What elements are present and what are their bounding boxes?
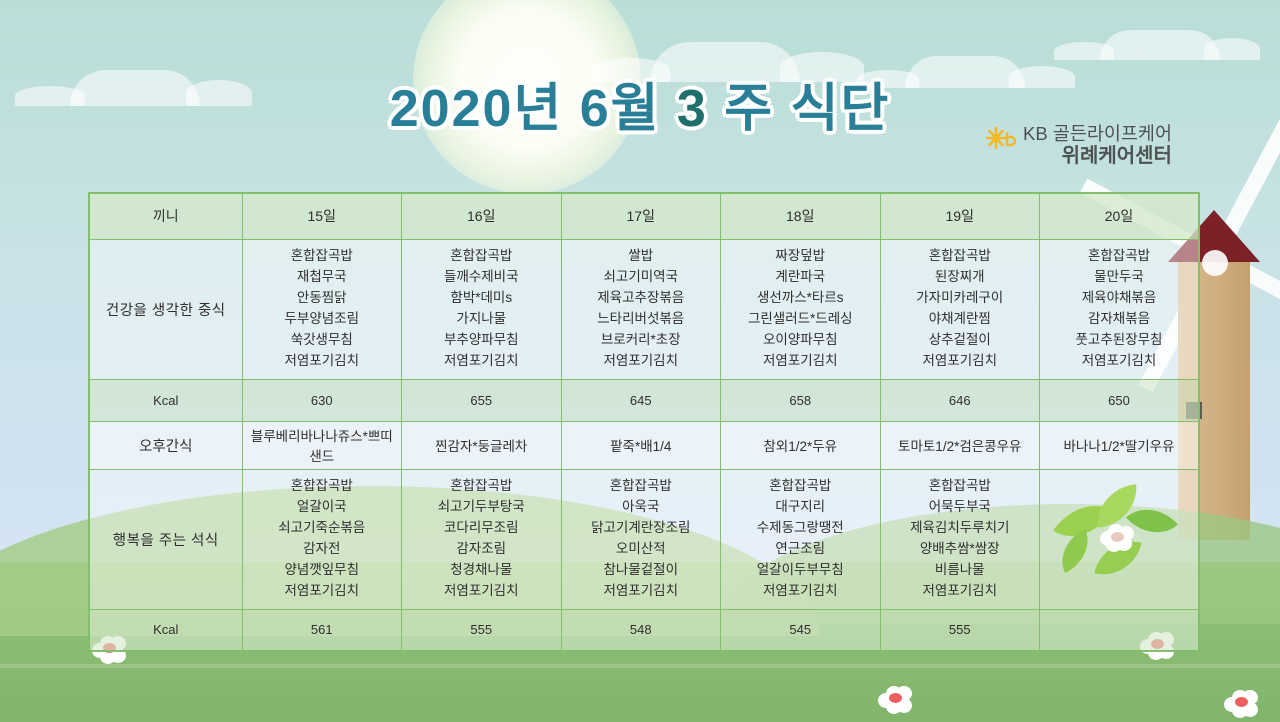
menu-cell-day-6: 혼합잡곡밥물만두국제육야채볶음감자채볶음풋고추된장무침저염포기김치 bbox=[1040, 239, 1200, 379]
page-title-part2: 주 식단 bbox=[708, 80, 890, 138]
dish-list: 혼합잡곡밥어묵두부국제육김치두루치기양배추쌈*쌈장비름나물저염포기김치 bbox=[885, 476, 1036, 602]
dish-item: 제육김치두루치기 bbox=[885, 518, 1036, 539]
dish-item: 혼합잡곡밥 bbox=[247, 246, 398, 267]
table-row: Kcal561555548545555 bbox=[89, 609, 1199, 651]
menu-cell-day-1: 혼합잡곡밥재첩무국안동찜닭두부양념조림쑥갓생무침저염포기김치 bbox=[242, 239, 402, 379]
dish-item: 혼합잡곡밥 bbox=[725, 476, 876, 497]
snack-cell-day-4: 참외1/2*두유 bbox=[721, 421, 881, 469]
snack-cell-day-2: 찐감자*둥글레차 bbox=[402, 421, 562, 469]
kcal-cell-day-4: 545 bbox=[721, 609, 881, 651]
dish-item: 재첩무국 bbox=[247, 267, 398, 288]
row-label-snack: 오후간식 bbox=[89, 421, 242, 469]
menu-cell-day-6 bbox=[1040, 469, 1200, 609]
dish-item: 혼합잡곡밥 bbox=[406, 246, 557, 267]
dish-item: 감자조림 bbox=[406, 539, 557, 560]
table-row: 행복을 주는 석식혼합잡곡밥얼갈이국쇠고기죽순볶음감자전양념깻잎무침저염포기김치… bbox=[89, 469, 1199, 609]
dish-item: 참나물겉절이 bbox=[566, 560, 717, 581]
kcal-cell-day-2: 655 bbox=[402, 379, 562, 421]
table-row: 건강을 생각한 중식혼합잡곡밥재첩무국안동찜닭두부양념조림쑥갓생무침저염포기김치… bbox=[89, 239, 1199, 379]
flower-icon-4 bbox=[1224, 690, 1258, 718]
header-cell-day-6: 20일 bbox=[1040, 193, 1200, 239]
dish-item: 혼합잡곡밥 bbox=[247, 476, 398, 497]
kcal-cell-day-6 bbox=[1040, 609, 1200, 651]
dish-item: 저염포기김치 bbox=[566, 581, 717, 602]
row-label-meal: 건강을 생각한 중식 bbox=[89, 239, 242, 379]
dish-item: 양념깻잎무침 bbox=[247, 560, 398, 581]
dish-item: 쇠고기두부탕국 bbox=[406, 497, 557, 518]
dish-item: 저염포기김치 bbox=[566, 351, 717, 372]
menu-cell-day-2: 혼합잡곡밥쇠고기두부탕국코다리무조림감자조림청경채나물저염포기김치 bbox=[402, 469, 562, 609]
dish-item: 가자미카레구이 bbox=[885, 288, 1036, 309]
dish-list: 혼합잡곡밥들깨수제비국함박*데미s가지나물부추양파무침저염포기김치 bbox=[406, 246, 557, 372]
menu-table: 끼니15일16일17일18일19일20일건강을 생각한 중식혼합잡곡밥재첩무국안… bbox=[88, 192, 1200, 652]
dish-item: 연근조림 bbox=[725, 539, 876, 560]
dish-item: 저염포기김치 bbox=[1044, 351, 1194, 372]
logo-company-name: KB 골든라이프케어 bbox=[1023, 124, 1172, 145]
brand-logo: KB 골든라이프케어 위례케어센터 bbox=[986, 124, 1172, 167]
menu-cell-day-4: 혼합잡곡밥대구지리수제동그랑땡전연근조림얼갈이두부무침저염포기김치 bbox=[721, 469, 881, 609]
dish-item: 저염포기김치 bbox=[247, 581, 398, 602]
kcal-cell-day-1: 630 bbox=[242, 379, 402, 421]
page-title-week-number: 3 bbox=[677, 80, 708, 138]
dish-item: 혼합잡곡밥 bbox=[566, 476, 717, 497]
kcal-cell-day-1: 561 bbox=[242, 609, 402, 651]
dish-item: 쌀밥 bbox=[566, 246, 717, 267]
dish-list: 짜장덮밥계란파국생선까스*타르s그린샐러드*드레싱오이양파무침저염포기김치 bbox=[725, 246, 876, 372]
snack-cell-day-6: 바나나1/2*딸기우유 bbox=[1040, 421, 1200, 469]
logo-center-name: 위례케어센터 bbox=[1023, 145, 1172, 167]
dish-item: 저염포기김치 bbox=[406, 581, 557, 602]
dish-item: 혼합잡곡밥 bbox=[885, 246, 1036, 267]
menu-cell-day-3: 쌀밥쇠고기미역국제육고추장볶음느타리버섯볶음브로커리*초장저염포기김치 bbox=[561, 239, 721, 379]
dish-item: 그린샐러드*드레싱 bbox=[725, 309, 876, 330]
dish-item: 부추양파무침 bbox=[406, 330, 557, 351]
dish-item: 쇠고기죽순볶음 bbox=[247, 518, 398, 539]
header-cell-day-4: 18일 bbox=[721, 193, 881, 239]
dish-list: 혼합잡곡밥된장찌개가자미카레구이야채계란찜상추겉절이저염포기김치 bbox=[885, 246, 1036, 372]
table-header-row: 끼니15일16일17일18일19일20일 bbox=[89, 193, 1199, 239]
kcal-cell-day-6: 650 bbox=[1040, 379, 1200, 421]
dish-item: 대구지리 bbox=[725, 497, 876, 518]
dish-item: 얼갈이두부무침 bbox=[725, 560, 876, 581]
dish-item: 저염포기김치 bbox=[885, 351, 1036, 372]
kcal-cell-day-2: 555 bbox=[402, 609, 562, 651]
dish-item: 어묵두부국 bbox=[885, 497, 1036, 518]
dish-item: 닭고기계란장조림 bbox=[566, 518, 717, 539]
kcal-cell-day-5: 555 bbox=[880, 609, 1040, 651]
dish-item: 제육고추장볶음 bbox=[566, 288, 717, 309]
menu-cell-day-5: 혼합잡곡밥어묵두부국제육김치두루치기양배추쌈*쌈장비름나물저염포기김치 bbox=[880, 469, 1040, 609]
dish-item: 두부양념조림 bbox=[247, 309, 398, 330]
leaves-icon bbox=[1044, 476, 1194, 603]
kcal-cell-day-5: 646 bbox=[880, 379, 1040, 421]
dish-item: 감자전 bbox=[247, 539, 398, 560]
cloud-icon-far-right bbox=[1100, 30, 1220, 60]
dish-list: 혼합잡곡밥재첩무국안동찜닭두부양념조림쑥갓생무침저염포기김치 bbox=[247, 246, 398, 372]
snack-cell-day-3: 팥죽*배1/4 bbox=[561, 421, 721, 469]
dish-item: 저염포기김치 bbox=[885, 581, 1036, 602]
dish-list: 혼합잡곡밥쇠고기두부탕국코다리무조림감자조림청경채나물저염포기김치 bbox=[406, 476, 557, 602]
dish-item: 풋고추된장무침 bbox=[1044, 330, 1194, 351]
dish-item: 상추겉절이 bbox=[885, 330, 1036, 351]
header-cell-day-2: 16일 bbox=[402, 193, 562, 239]
dish-item: 양배추쌈*쌈장 bbox=[885, 539, 1036, 560]
row-label-meal: 행복을 주는 석식 bbox=[89, 469, 242, 609]
dish-item: 아욱국 bbox=[566, 497, 717, 518]
dish-item: 쇠고기미역국 bbox=[566, 267, 717, 288]
dish-list: 혼합잡곡밥대구지리수제동그랑땡전연근조림얼갈이두부무침저염포기김치 bbox=[725, 476, 876, 602]
dish-item: 수제동그랑땡전 bbox=[725, 518, 876, 539]
dish-item: 청경채나물 bbox=[406, 560, 557, 581]
kb-star-icon bbox=[986, 126, 1016, 152]
dish-item: 브로커리*초장 bbox=[566, 330, 717, 351]
meal-plan-poster: 2020년 6월 3 주 식단 KB 골든라이프케어 위례케어센터 bbox=[0, 0, 1280, 722]
row-label-kcal: Kcal bbox=[89, 609, 242, 651]
dish-item: 오이양파무침 bbox=[725, 330, 876, 351]
dish-item: 안동찜닭 bbox=[247, 288, 398, 309]
page-title-part1: 2020년 6월 bbox=[390, 80, 677, 138]
snack-cell-day-5: 토마토1/2*검은콩우유 bbox=[880, 421, 1040, 469]
dish-item: 감자채볶음 bbox=[1044, 309, 1194, 330]
dish-item: 가지나물 bbox=[406, 309, 557, 330]
menu-cell-day-1: 혼합잡곡밥얼갈이국쇠고기죽순볶음감자전양념깻잎무침저염포기김치 bbox=[242, 469, 402, 609]
dish-item: 느타리버섯볶음 bbox=[566, 309, 717, 330]
header-cell-day-3: 17일 bbox=[561, 193, 721, 239]
menu-table-container: 끼니15일16일17일18일19일20일건강을 생각한 중식혼합잡곡밥재첩무국안… bbox=[88, 192, 1198, 652]
dish-item: 제육야채볶음 bbox=[1044, 288, 1194, 309]
dish-item: 된장찌개 bbox=[885, 267, 1036, 288]
menu-cell-day-3: 혼합잡곡밥아욱국닭고기계란장조림오미산적참나물겉절이저염포기김치 bbox=[561, 469, 721, 609]
row-label-kcal: Kcal bbox=[89, 379, 242, 421]
dish-item: 혼합잡곡밥 bbox=[885, 476, 1036, 497]
kcal-cell-day-4: 658 bbox=[721, 379, 881, 421]
dish-item: 오미산적 bbox=[566, 539, 717, 560]
snack-cell-day-1: 블루베리바나나쥬스*쁘띠샌드 bbox=[242, 421, 402, 469]
dish-item: 생선까스*타르s bbox=[725, 288, 876, 309]
dish-item: 쑥갓생무침 bbox=[247, 330, 398, 351]
dish-item: 비름나물 bbox=[885, 560, 1036, 581]
dish-item: 함박*데미s bbox=[406, 288, 557, 309]
dish-item: 계란파국 bbox=[725, 267, 876, 288]
dish-item: 저염포기김치 bbox=[247, 351, 398, 372]
dish-item: 저염포기김치 bbox=[406, 351, 557, 372]
header-cell-day-5: 19일 bbox=[880, 193, 1040, 239]
dish-item: 혼합잡곡밥 bbox=[1044, 246, 1194, 267]
dish-item: 혼합잡곡밥 bbox=[406, 476, 557, 497]
dish-list: 쌀밥쇠고기미역국제육고추장볶음느타리버섯볶음브로커리*초장저염포기김치 bbox=[566, 246, 717, 372]
dish-item: 짜장덮밥 bbox=[725, 246, 876, 267]
menu-cell-day-2: 혼합잡곡밥들깨수제비국함박*데미s가지나물부추양파무침저염포기김치 bbox=[402, 239, 562, 379]
dish-list: 혼합잡곡밥물만두국제육야채볶음감자채볶음풋고추된장무침저염포기김치 bbox=[1044, 246, 1194, 372]
flower-icon-3 bbox=[878, 686, 912, 714]
menu-cell-day-5: 혼합잡곡밥된장찌개가자미카레구이야채계란찜상추겉절이저염포기김치 bbox=[880, 239, 1040, 379]
kcal-cell-day-3: 645 bbox=[561, 379, 721, 421]
dish-item: 물만두국 bbox=[1044, 267, 1194, 288]
kcal-cell-day-3: 548 bbox=[561, 609, 721, 651]
dish-item: 저염포기김치 bbox=[725, 581, 876, 602]
dish-item: 야채계란찜 bbox=[885, 309, 1036, 330]
windmill-hub bbox=[1202, 250, 1228, 276]
dish-item: 저염포기김치 bbox=[725, 351, 876, 372]
header-cell-meal-type: 끼니 bbox=[89, 193, 242, 239]
dish-item: 얼갈이국 bbox=[247, 497, 398, 518]
dish-item: 들깨수제비국 bbox=[406, 267, 557, 288]
table-row: Kcal630655645658646650 bbox=[89, 379, 1199, 421]
dish-item: 코다리무조림 bbox=[406, 518, 557, 539]
grass-highlight-band bbox=[0, 664, 1280, 668]
dish-list: 혼합잡곡밥아욱국닭고기계란장조림오미산적참나물겉절이저염포기김치 bbox=[566, 476, 717, 602]
header-cell-day-1: 15일 bbox=[242, 193, 402, 239]
dish-list: 혼합잡곡밥얼갈이국쇠고기죽순볶음감자전양념깻잎무침저염포기김치 bbox=[247, 476, 398, 602]
table-row: 오후간식블루베리바나나쥬스*쁘띠샌드찐감자*둥글레차팥죽*배1/4참외1/2*두… bbox=[89, 421, 1199, 469]
menu-cell-day-4: 짜장덮밥계란파국생선까스*타르s그린샐러드*드레싱오이양파무침저염포기김치 bbox=[721, 239, 881, 379]
